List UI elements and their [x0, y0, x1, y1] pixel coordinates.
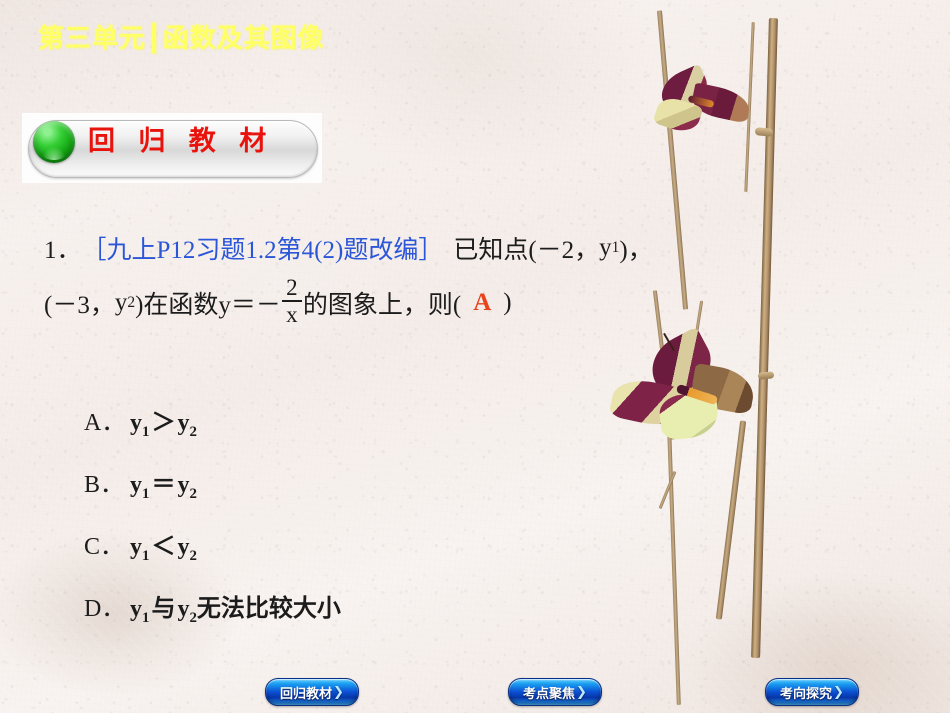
butterfly-lower-wing-upper-left [641, 326, 720, 401]
branch-right-node-b [758, 371, 775, 379]
question-source-ref: ［九上P12习题1.2第4(2)题改编］ [82, 230, 444, 266]
option-b-relation: ＝ [149, 472, 177, 498]
chevron-right-icon: ❯ [833, 685, 844, 700]
nav-button-exam-trends[interactable]: 考向探究 ❯ [765, 678, 859, 706]
butterfly-upper-wing-upper-right [690, 82, 753, 123]
nav-button-review-textbook[interactable]: 回归教材 ❯ [265, 678, 359, 706]
option-b-rhs-sub: 2 [189, 485, 196, 501]
option-d-relation: 与 [149, 596, 177, 622]
question-y1-var: y [599, 234, 612, 262]
option-b-text: y1＝y2 [130, 464, 197, 499]
question-y2-var: y [115, 289, 128, 317]
option-a-text: y1＞y2 [130, 402, 197, 437]
fraction-two-over-x: 2 x [282, 276, 302, 326]
option-d-letter: D． [84, 588, 130, 623]
option-a-rhs-sub: 2 [189, 423, 196, 439]
option-c-rhs: y [177, 534, 189, 560]
butterfly-upper-body [688, 95, 715, 108]
fraction-numerator: 2 [286, 276, 298, 300]
butterfly-upper-wing-lower-left [652, 94, 703, 136]
section-banner[interactable]: 回 归 教 材 [22, 113, 322, 183]
option-a-letter: A． [84, 402, 130, 437]
question-number: 1． [44, 230, 82, 266]
butterfly-upper [648, 72, 753, 142]
question-stem-part2: )， [619, 230, 652, 266]
branch-right-fork-left [716, 420, 746, 619]
nav-button-exam-trends-label: 考向探究 [780, 683, 832, 702]
branch-right-node-a [755, 127, 774, 137]
chevron-right-icon: ❯ [333, 685, 344, 700]
butterfly-lower [610, 338, 750, 448]
chevron-right-icon: ❯ [576, 685, 587, 700]
option-d-tail: 无法比较大小 [197, 596, 341, 622]
option-a-relation: ＞ [149, 410, 177, 436]
fraction-denominator: x [286, 302, 298, 326]
option-b-letter: B． [84, 464, 130, 499]
nav-button-exam-focus-label: 考点聚焦 [523, 683, 575, 702]
option-b-lhs: y [130, 472, 142, 498]
green-circle-icon [33, 121, 75, 163]
butterfly-lower-antenna [663, 333, 675, 351]
option-row-d[interactable]: D． y1与y2无法比较大小 [84, 574, 341, 636]
nav-button-exam-focus[interactable]: 考点聚焦 ❯ [508, 678, 602, 706]
butterfly-upper-wing-upper-left [655, 64, 713, 115]
slide-canvas: 第三单元┃函数及其图像 回 归 教 材 1． ［九上P12习题1.2第4(2)题… [0, 0, 950, 713]
option-d-rhs: y [177, 596, 189, 622]
option-c-relation: ＜ [149, 534, 177, 560]
question-line-1: 1． ［九上P12习题1.2第4(2)题改编］ 已知点(－2， y1 )， [44, 222, 764, 274]
option-d-lhs: y [130, 596, 142, 622]
question-line2-part1: (－3， [44, 285, 115, 321]
butterfly-lower-wing-lower-right [658, 391, 720, 441]
option-d-rhs-sub: 2 [189, 609, 196, 625]
option-c-text: y1＜y2 [130, 526, 197, 561]
branch-right-shoot [744, 22, 754, 192]
butterfly-lower-wing-upper-right [689, 363, 757, 415]
option-a-lhs: y [130, 410, 142, 436]
option-d-text: y1与y2无法比较大小 [130, 588, 341, 623]
option-row-b[interactable]: B． y1＝y2 [84, 450, 341, 512]
option-row-c[interactable]: C． y1＜y2 [84, 512, 341, 574]
butterfly-lower-body [676, 384, 719, 406]
question-block: 1． ［九上P12习题1.2第4(2)题改编］ 已知点(－2， y1 )， (－… [44, 222, 764, 332]
option-b-rhs: y [177, 472, 189, 498]
branch-lower-spur [659, 471, 677, 509]
option-c-lhs: y [130, 534, 142, 560]
option-row-a[interactable]: A． y1＞y2 [84, 388, 341, 450]
butterfly-lower-wing-lower-left [608, 375, 691, 432]
option-a-rhs: y [177, 410, 189, 436]
question-line2-part4: ) [503, 289, 511, 317]
option-c-letter: C． [84, 526, 130, 561]
unit-header-title: 第三单元┃函数及其图像 [38, 18, 325, 55]
question-line-2: (－3， y2 )在函数y＝－ 2 x 的图象上，则( A ) [44, 274, 764, 332]
section-banner-label: 回 归 教 材 [88, 122, 273, 162]
branch-right-main [751, 18, 778, 658]
question-line2-part3: 的图象上，则( [303, 285, 461, 321]
answer-key: A [461, 289, 503, 317]
option-c-rhs-sub: 2 [189, 547, 196, 563]
branch-lower-stem [667, 430, 681, 705]
nav-button-review-textbook-label: 回归教材 [280, 683, 332, 702]
question-stem-part1: 已知点(－2， [443, 230, 599, 266]
options-list: A． y1＞y2 B． y1＝y2 C． y1＜y2 D． y1与y2无法比较大… [84, 388, 341, 636]
question-line2-part2: )在函数y＝－ [135, 285, 281, 321]
decorative-branch-photo [600, 0, 950, 713]
